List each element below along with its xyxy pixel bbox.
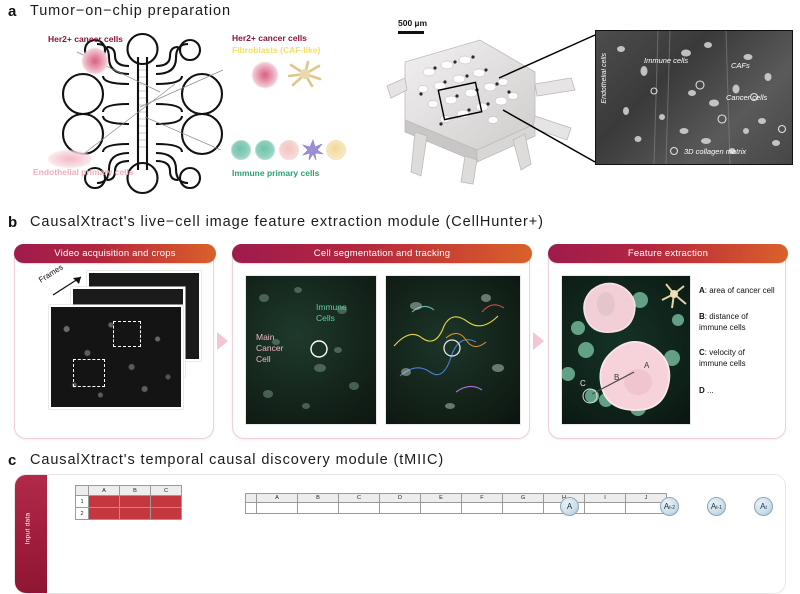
cell-value (151, 496, 182, 508)
node-sub: t (765, 505, 766, 511)
banner-feature-extraction: Feature extraction (548, 244, 788, 263)
cell-row-index: 2 (76, 508, 89, 520)
table-row: 2 (76, 508, 182, 520)
label-fibroblasts-caf: Fibroblasts (CAF-like) (232, 45, 320, 55)
cell-value (298, 503, 339, 514)
cell-value (380, 503, 421, 514)
th-r-c: C (339, 494, 380, 503)
annotation-3d-collagen-matrix: 3D collagen matrix (684, 147, 746, 156)
th-idx (246, 494, 257, 503)
panel-a-title: Tumor−on−chip preparation (30, 3, 231, 19)
card-tmiic: Input data A B C 1 2 (14, 474, 786, 594)
th-col-b: B (120, 486, 151, 496)
cancer-cell-blob-left (82, 48, 108, 74)
label-endothelial-primary-cells: Endothelial primary cells (33, 167, 134, 177)
card-segmentation-tracking: Cell segmentation and tracking Main Canc… (232, 244, 530, 439)
cell-value (462, 503, 503, 514)
immune-cell-green-2 (255, 140, 275, 160)
tmiic-sidebar: Input data (14, 474, 47, 594)
arrow-step-1-to-2 (217, 332, 228, 350)
th-r-i: I (585, 494, 626, 503)
table-row: 1 (76, 496, 182, 508)
th-r-e: E (421, 494, 462, 503)
cell-value (120, 496, 151, 508)
crop-box-1 (113, 321, 141, 347)
node-sub: t-1 (716, 505, 722, 511)
th-col-c: C (151, 486, 182, 496)
feature-a: A: area of cancer cell (699, 285, 775, 296)
panel-b-title: CausalXtract's live−cell image feature e… (30, 214, 544, 230)
arrow-step-2-to-3 (533, 332, 544, 350)
immune-cell-green-1 (231, 140, 251, 160)
feature-d-text: ... (707, 386, 714, 395)
panel-b-cellhunter: b CausalXtract's live−cell image feature… (0, 210, 800, 445)
graph-node-a-t-2: At-2 (660, 497, 679, 516)
cell-value (339, 503, 380, 514)
feature-b-text: distance of immune cells (699, 312, 748, 332)
cell-idx (246, 503, 257, 514)
feature-b: B: distance of immune cells (699, 311, 748, 333)
cell-value (151, 508, 182, 520)
cell-value (257, 503, 298, 514)
card-feature-extraction: Feature extraction (548, 244, 786, 439)
cell-row-index: 1 (76, 496, 89, 508)
cell-value (89, 496, 120, 508)
th-r-d: D (380, 494, 421, 503)
annotation-immune-cells: Immune cells (644, 56, 688, 65)
micrograph-image: Endothelial cells Immune cells CAFs Canc… (595, 30, 793, 165)
cell-value (120, 508, 151, 520)
card-video-acquisition: Video acquisition and crops Frames (14, 244, 214, 439)
panel-c-title: CausalXtract's temporal causal discovery… (30, 452, 444, 468)
segmentation-image-left: Main Cancer Cell Immune Cells (245, 275, 377, 425)
annotation-cafs: CAFs (731, 61, 750, 70)
panel-a-letter: a (8, 3, 16, 20)
feature-b-key: B (699, 312, 705, 321)
fibroblast-caf-icon (288, 60, 322, 88)
cell-value (585, 503, 626, 514)
th-r-g: G (503, 494, 544, 503)
node-sub: t-2 (669, 505, 675, 511)
label-her2-cancer-cells-left: Her2+ cancer cells (48, 34, 123, 44)
immune-cell-yellow (326, 140, 346, 160)
panel-a-tumor-on-chip: a Tumor−on−chip preparation (0, 0, 800, 205)
feature-c-text: velocity of immune cells (699, 348, 746, 368)
node-label: A (567, 502, 572, 511)
graph-node-a: A (560, 497, 579, 516)
feature-a-text: area of cancer cell (709, 286, 774, 295)
svg-text:B: B (614, 373, 619, 382)
tracking-image-right (385, 275, 521, 425)
label-immune-cells: Immune Cells (316, 302, 347, 324)
feature-a-key: A (699, 286, 705, 295)
immune-cell-pink (279, 140, 299, 160)
tracked-cell-circle (308, 338, 330, 360)
th-row-index (76, 486, 89, 496)
svg-text:A: A (644, 361, 650, 370)
immune-cell-star-icon (302, 139, 324, 161)
frame-front (49, 305, 183, 409)
feature-extraction-image: A B C (561, 275, 691, 425)
annotation-cancer-cells: Cancer cells (726, 93, 767, 102)
cell-value (503, 503, 544, 514)
crop-box-2 (73, 359, 105, 387)
label-immune-primary-cells: Immune primary cells (232, 168, 319, 178)
input-table-left: A B C 1 2 (75, 485, 182, 520)
th-r-b: B (298, 494, 339, 503)
scalebar-label: 500 µm (398, 18, 427, 28)
panel-b-letter: b (8, 214, 17, 231)
graph-node-a-t-1: At-1 (707, 497, 726, 516)
label-her2-cancer-cells-right: Her2+ cancer cells (232, 33, 307, 43)
graph-node-a-t: At (754, 497, 773, 516)
panel-c-letter: c (8, 452, 16, 469)
endothelial-cell-blob (48, 150, 92, 168)
feature-d-key: D (699, 386, 705, 395)
th-col-a: A (89, 486, 120, 496)
banner-cell-segmentation: Cell segmentation and tracking (232, 244, 532, 263)
th-r-f: F (462, 494, 503, 503)
cancer-cell-blob-right (252, 62, 278, 88)
cell-value (421, 503, 462, 514)
banner-video-acquisition: Video acquisition and crops (14, 244, 216, 263)
tmiic-sidebar-label: Input data (25, 492, 32, 566)
svg-text:C: C (580, 379, 586, 388)
table-row (246, 503, 667, 514)
input-table-right: A B C D E F G H I J (245, 493, 667, 514)
panel-c-tmiic: c CausalXtract's temporal causal discove… (0, 448, 800, 530)
cell-value (89, 508, 120, 520)
feature-d: D ... (699, 385, 714, 396)
th-r-a: A (257, 494, 298, 503)
annotation-endothelial-cells: Endothelial cells (601, 53, 613, 104)
label-main-cancer-cell: Main Cancer Cell (256, 332, 283, 365)
feature-c: C: velocity of immune cells (699, 347, 746, 369)
feature-c-key: C (699, 348, 705, 357)
